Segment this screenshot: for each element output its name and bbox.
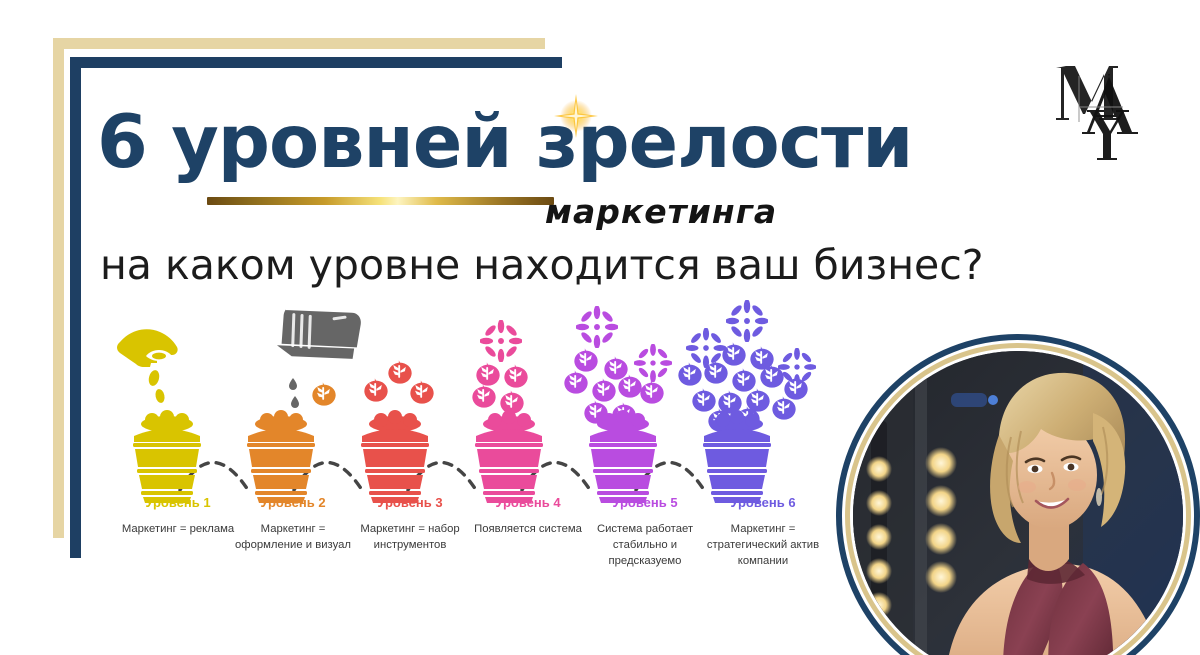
level-description-1: Маркетинг = реклама <box>118 521 238 537</box>
stage-3-illustration <box>361 360 434 503</box>
level-label-5: Уровень 5 Система работает стабильно и п… <box>585 495 705 570</box>
soil-mound-1 <box>141 410 193 432</box>
level-label-6: Уровень 6 Маркетинг = стратегический акт… <box>703 495 823 570</box>
sprout-icon-3-1 <box>364 378 387 401</box>
sprout-icon-6-11 <box>772 396 795 419</box>
poster-canvas: 6 уровней зрелости маркетинга на каком у… <box>0 0 1200 655</box>
maturity-growth-diagram <box>110 300 840 510</box>
sprout-icon-6-1 <box>722 342 745 365</box>
level-description-3: Маркетинг = набор инструментов <box>350 521 470 554</box>
flower-pot-icon-2 <box>247 429 315 503</box>
page-subtitle: на каком уровне находится ваш бизнес? <box>100 243 984 288</box>
flower-pot-icon-3 <box>361 429 429 503</box>
title-script-word: маркетинга <box>545 192 777 231</box>
maturity-level-labels: Уровень 1 Маркетинг = реклама Уровень 2 … <box>118 495 840 585</box>
sprout-icon-5-3 <box>564 370 587 393</box>
level-heading-3: Уровень 3 <box>350 495 470 511</box>
level-description-4: Появляется система <box>468 521 588 537</box>
sprout-icon-5-4 <box>592 378 615 401</box>
page-title: 6 уровней зрелости <box>97 106 912 179</box>
flower-pot-icon-4 <box>475 429 543 503</box>
flower-pot-icon-6 <box>703 429 771 503</box>
stage-6-illustration <box>678 300 816 503</box>
level-description-6: Маркетинг = стратегический актив компани… <box>703 521 823 570</box>
sprout-icon-5-6 <box>640 380 663 403</box>
sprout-icon-6-5 <box>732 368 755 391</box>
flower-icon-6-1 <box>725 300 768 343</box>
brand-monogram-logo[interactable] <box>1052 52 1160 170</box>
flower-pot-icon-5 <box>589 429 657 503</box>
soil-mound-2 <box>255 410 307 432</box>
flower-pot-icon-1 <box>133 429 201 503</box>
gold-underline <box>207 197 554 205</box>
sprout-icon-2-1 <box>312 382 335 405</box>
stage-4-illustration <box>472 319 543 503</box>
sprout-icon-6-10 <box>746 388 769 411</box>
level-description-2: Маркетинг = оформление и визуал <box>233 521 353 554</box>
hand-sowing-seed-icon <box>117 329 178 404</box>
soil-mound-3 <box>369 410 421 432</box>
flower-icon-5-2 <box>633 343 672 382</box>
sprout-icon-4-3 <box>472 384 495 407</box>
level-label-2: Уровень 2 Маркетинг = оформление и визуа… <box>233 495 353 553</box>
level-heading-4: Уровень 4 <box>468 495 588 511</box>
sprout-icon-5-2 <box>604 356 627 379</box>
stage-5-illustration <box>564 305 672 503</box>
flower-icon-4-1 <box>479 319 522 362</box>
sparkle-star-icon <box>552 92 600 140</box>
sprout-icon-6-8 <box>692 388 715 411</box>
sprout-icon-4-1 <box>476 362 499 385</box>
level-heading-6: Уровень 6 <box>703 495 823 511</box>
level-heading-1: Уровень 1 <box>118 495 238 511</box>
level-heading-5: Уровень 5 <box>585 495 705 511</box>
level-description-5: Система работает стабильно и предсказуем… <box>585 521 705 570</box>
level-label-4: Уровень 4 Появляется система <box>468 495 588 537</box>
sprout-icon-3-3 <box>410 380 433 403</box>
sprout-icon-5-1 <box>574 348 597 371</box>
author-portrait <box>836 334 1200 655</box>
watering-can-icon <box>277 300 364 426</box>
sprout-icon-6-2 <box>750 346 773 369</box>
stage-1-illustration <box>117 329 201 503</box>
sprout-icon-4-4 <box>500 390 523 413</box>
sprout-icon-3-2 <box>388 360 411 383</box>
level-heading-2: Уровень 2 <box>233 495 353 511</box>
flower-icon-5-1 <box>575 305 618 348</box>
level-label-1: Уровень 1 Маркетинг = реклама <box>118 495 238 537</box>
flower-icon-6-2 <box>685 327 726 368</box>
sprout-icon-6-3 <box>678 362 701 385</box>
sprout-icon-4-2 <box>504 364 527 387</box>
level-label-3: Уровень 3 Маркетинг = набор инструментов <box>350 495 470 553</box>
soil-mound-4 <box>483 410 535 432</box>
